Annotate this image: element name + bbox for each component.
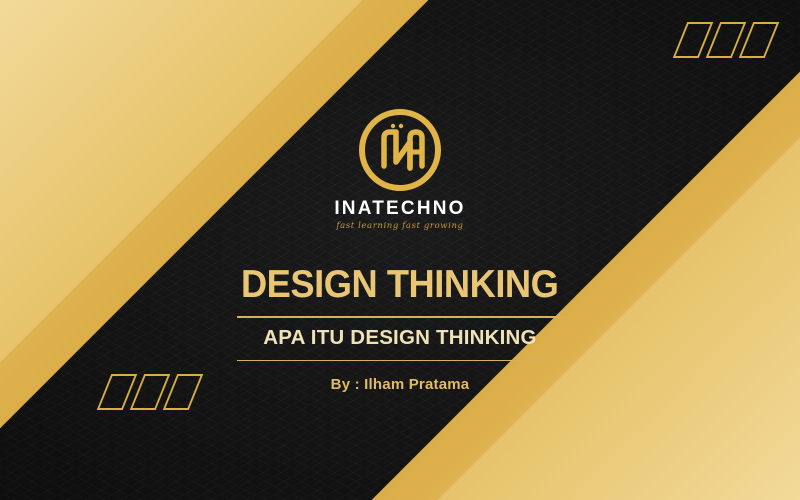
slide-title: DESIGN THINKING	[241, 265, 558, 306]
parallelogram-group-top-right	[680, 22, 772, 58]
brand-name: INATECHNO	[334, 199, 465, 218]
author-byline: By : Ilham Pratama	[331, 376, 470, 393]
inatechno-monogram-icon	[358, 108, 442, 192]
brand-logo-block: INATECHNO fast learning fast growing	[334, 108, 465, 231]
title-slide: INATECHNO fast learning fast growing DES…	[0, 0, 800, 500]
title-divider-top	[237, 316, 563, 318]
title-divider-bottom	[237, 360, 563, 362]
slide-subtitle: APA ITU DESIGN THINKING	[263, 326, 536, 350]
brand-tagline: fast learning fast growing	[336, 222, 463, 231]
title-block: DESIGN THINKING APA ITU DESIGN THINKING …	[237, 265, 563, 394]
slide-content: INATECHNO fast learning fast growing DES…	[0, 108, 800, 393]
